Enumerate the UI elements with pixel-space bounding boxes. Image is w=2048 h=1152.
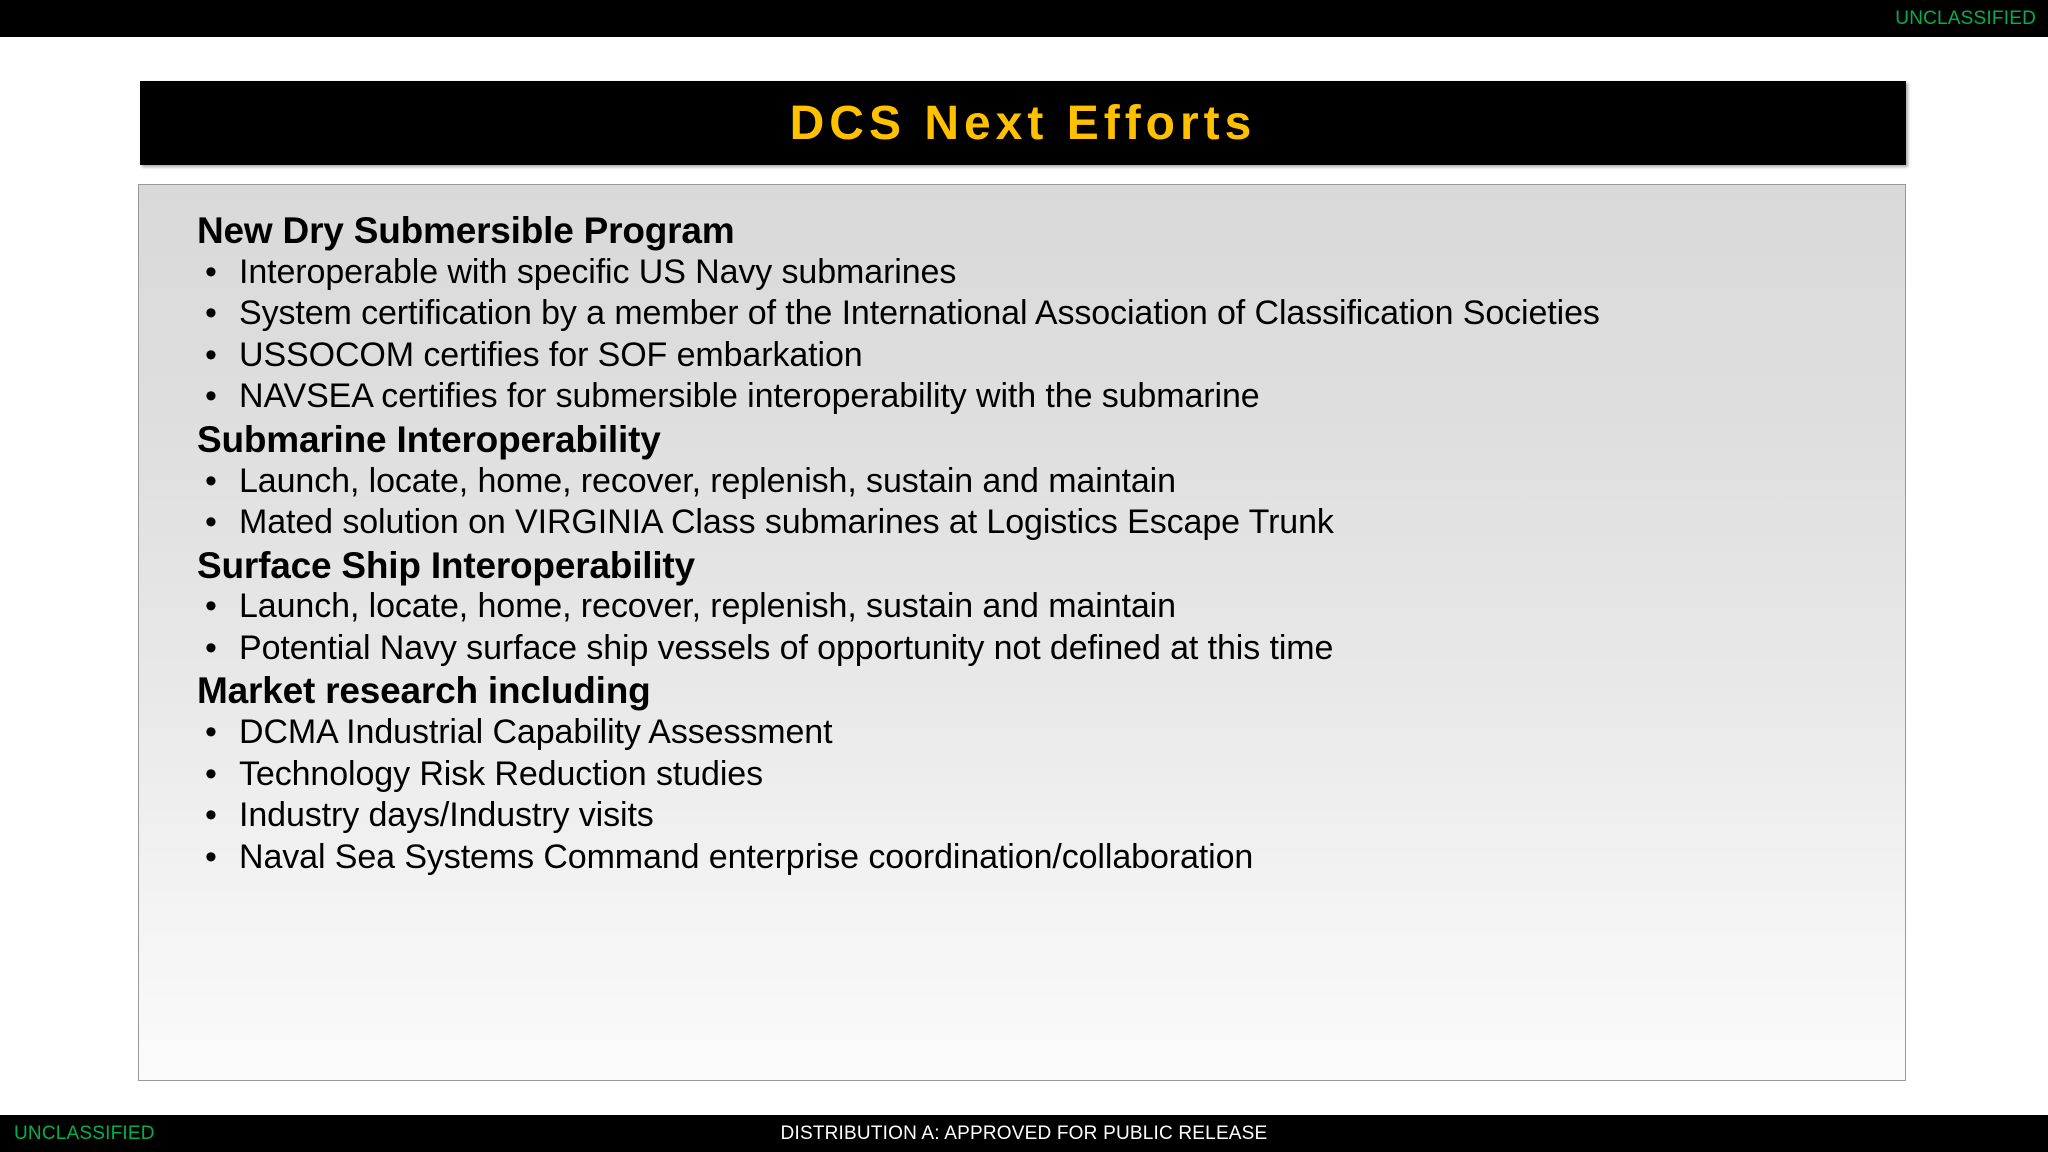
list-item: • DCMA Industrial Capability Assessment — [197, 713, 1875, 752]
list-item: • Launch, locate, home, recover, repleni… — [197, 462, 1875, 501]
list-item-label: NAVSEA certifies for submersible interop… — [239, 377, 1260, 415]
section-heading: New Dry Submersible Program — [197, 211, 1875, 251]
content-section: New Dry Submersible Program • Interopera… — [197, 211, 1875, 417]
bullet-dot-icon: • — [205, 629, 217, 668]
bullet-dot-icon: • — [205, 838, 217, 877]
bottom-classification-label: UNCLASSIFIED — [14, 1123, 155, 1145]
list-item-label: System certification by a member of the … — [239, 294, 1600, 332]
content-section: Market research including • DCMA Industr… — [197, 671, 1875, 877]
bullet-dot-icon: • — [205, 294, 217, 333]
list-item: • Potential Navy surface ship vessels of… — [197, 629, 1875, 668]
bullet-dot-icon: • — [205, 253, 217, 292]
content-section: Surface Ship Interoperability • Launch, … — [197, 546, 1875, 669]
list-item-label: DCMA Industrial Capability Assessment — [239, 713, 832, 751]
list-item-label: Launch, locate, home, recover, replenish… — [239, 462, 1176, 500]
list-item-label: Interoperable with specific US Navy subm… — [239, 253, 956, 291]
list-item-label: Potential Navy surface ship vessels of o… — [239, 629, 1333, 667]
bullet-list: • Launch, locate, home, recover, repleni… — [197, 462, 1875, 543]
list-item: • Industry days/Industry visits — [197, 796, 1875, 835]
bullet-dot-icon: • — [205, 755, 217, 794]
bullet-list: • DCMA Industrial Capability Assessment … — [197, 713, 1875, 877]
slide-title-bar: DCS Next Efforts — [140, 81, 1906, 165]
bullet-dot-icon: • — [205, 713, 217, 752]
list-item-label: Naval Sea Systems Command enterprise coo… — [239, 838, 1253, 876]
list-item-label: Mated solution on VIRGINIA Class submari… — [239, 503, 1334, 541]
bullet-dot-icon: • — [205, 377, 217, 416]
list-item: • System certification by a member of th… — [197, 294, 1875, 333]
bullet-list: • Interoperable with specific US Navy su… — [197, 253, 1875, 417]
bottom-classification-banner: UNCLASSIFIED DISTRIBUTION A: APPROVED FO… — [0, 1115, 2048, 1152]
list-item: • Mated solution on VIRGINIA Class subma… — [197, 503, 1875, 542]
list-item-label: USSOCOM certifies for SOF embarkation — [239, 336, 863, 374]
slide-content-panel: New Dry Submersible Program • Interopera… — [138, 184, 1906, 1081]
bullet-dot-icon: • — [205, 796, 217, 835]
bullet-dot-icon: • — [205, 503, 217, 542]
list-item-label: Technology Risk Reduction studies — [239, 755, 763, 793]
list-item-label: Industry days/Industry visits — [239, 796, 654, 834]
distribution-statement: DISTRIBUTION A: APPROVED FOR PUBLIC RELE… — [0, 1123, 2048, 1145]
section-heading: Market research including — [197, 671, 1875, 711]
list-item: • USSOCOM certifies for SOF embarkation — [197, 336, 1875, 375]
list-item: • Interoperable with specific US Navy su… — [197, 253, 1875, 292]
section-heading: Submarine Interoperability — [197, 420, 1875, 460]
bullet-list: • Launch, locate, home, recover, repleni… — [197, 587, 1875, 668]
section-heading: Surface Ship Interoperability — [197, 546, 1875, 586]
list-item-label: Launch, locate, home, recover, replenish… — [239, 587, 1176, 625]
bullet-dot-icon: • — [205, 587, 217, 626]
top-classification-banner: UNCLASSIFIED — [0, 0, 2048, 37]
bullet-dot-icon: • — [205, 462, 217, 501]
list-item: • Launch, locate, home, recover, repleni… — [197, 587, 1875, 626]
list-item: • NAVSEA certifies for submersible inter… — [197, 377, 1875, 416]
bullet-dot-icon: • — [205, 336, 217, 375]
top-classification-label: UNCLASSIFIED — [1895, 8, 2036, 30]
page-title: DCS Next Efforts — [790, 96, 1257, 151]
content-section: Submarine Interoperability • Launch, loc… — [197, 420, 1875, 543]
list-item: • Technology Risk Reduction studies — [197, 755, 1875, 794]
list-item: • Naval Sea Systems Command enterprise c… — [197, 838, 1875, 877]
